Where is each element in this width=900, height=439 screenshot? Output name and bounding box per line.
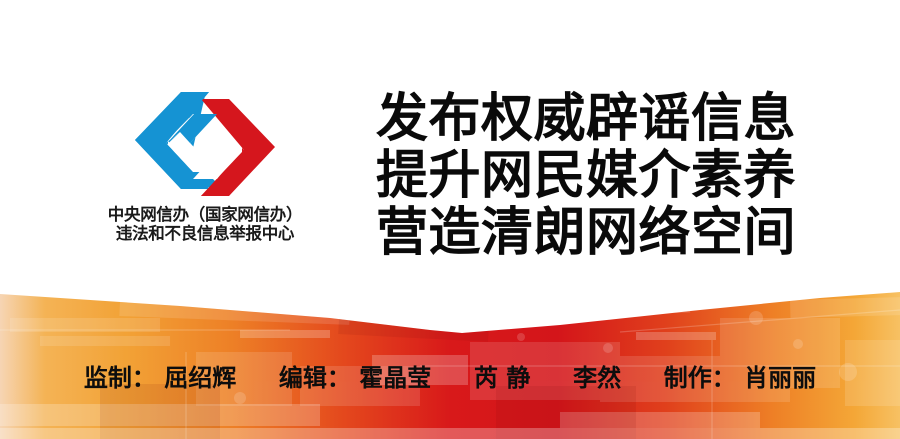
producer-name: 肖丽丽 [744, 363, 816, 393]
editor-name-3: 李然 [573, 363, 621, 393]
slogan-line-1: 发布权威辟谣信息 [376, 90, 796, 147]
slogan-line-3: 营造清朗网络空间 [376, 204, 796, 261]
editor-label: 编辑： [279, 363, 351, 393]
credits-line: 监制： 屈绍辉 编辑： 霍晶莹 芮 静 李然 制作： 肖丽丽 [0, 363, 900, 393]
slogan-line-2: 提升网民媒介素养 [376, 147, 796, 204]
supervisor-label: 监制： [84, 363, 156, 393]
logo-caption-line-2: 违法和不良信息举报中心 [108, 225, 302, 244]
logo-caption-line-1: 中央网信办（国家网信办） [108, 206, 302, 225]
slogan-block: 发布权威辟谣信息 提升网民媒介素养 营造清朗网络空间 [376, 90, 796, 261]
logo-caption: 中央网信办（国家网信办） 违法和不良信息举报中心 [108, 206, 302, 243]
editor-name-2: 芮 静 [474, 363, 530, 393]
supervisor-name: 屈绍辉 [164, 363, 236, 393]
logo-mark [131, 88, 279, 200]
logo-block: 中央网信办（国家网信办） 违法和不良信息举报中心 [60, 88, 350, 263]
poster-canvas: 中央网信办（国家网信办） 违法和不良信息举报中心 发布权威辟谣信息 提升网民媒介… [0, 0, 900, 439]
editor-name-1: 霍晶莹 [359, 363, 431, 393]
producer-label: 制作： [664, 363, 736, 393]
